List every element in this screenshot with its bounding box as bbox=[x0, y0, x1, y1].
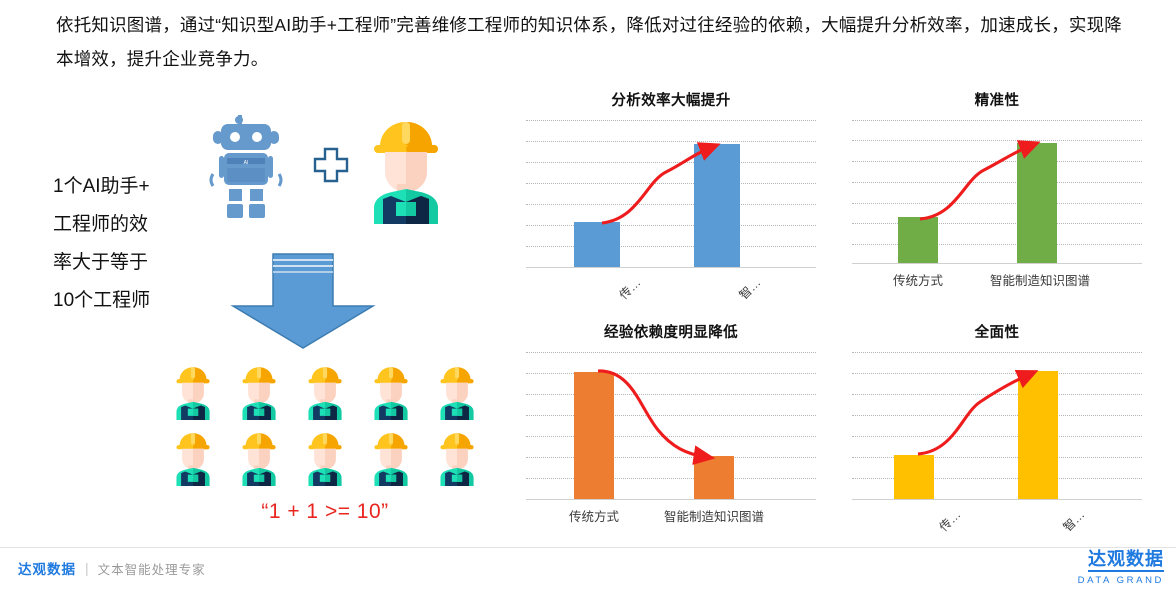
chart-plot-area bbox=[852, 352, 1142, 500]
gridline bbox=[852, 203, 1142, 204]
chart-category-row: 传… 智… bbox=[852, 500, 1142, 534]
gridline bbox=[526, 246, 816, 247]
bar-efficiency-1 bbox=[694, 144, 740, 267]
bar-efficiency-0 bbox=[574, 222, 620, 267]
chart-category-label: 智… bbox=[1059, 506, 1088, 535]
worker-icon-small bbox=[433, 426, 481, 486]
gridline bbox=[526, 373, 816, 374]
actors-illustration: AI bbox=[185, 108, 470, 228]
gridline bbox=[852, 394, 1142, 395]
bar-dependency-0 bbox=[574, 372, 614, 499]
robot-badge-label: AI bbox=[244, 160, 249, 166]
worker-icon-small bbox=[169, 426, 217, 486]
gridline bbox=[526, 457, 816, 458]
gridline bbox=[526, 478, 816, 479]
worker-icon-small bbox=[301, 426, 349, 486]
bar-accuracy-0 bbox=[898, 217, 938, 263]
worker-icon-small bbox=[367, 360, 415, 420]
gridline bbox=[526, 352, 816, 353]
left-statement-line-3: 率大于等于 bbox=[53, 244, 203, 282]
worker-icon-small bbox=[367, 426, 415, 486]
gridline bbox=[526, 183, 816, 184]
bar-accuracy-1 bbox=[1017, 143, 1057, 263]
footer-divider: | bbox=[85, 560, 89, 576]
plus-icon bbox=[312, 146, 350, 184]
gridline bbox=[526, 204, 816, 205]
gridline bbox=[852, 120, 1142, 121]
left-statement-line-4: 10个工程师 bbox=[53, 282, 203, 320]
chart-category-label: 传… bbox=[935, 506, 964, 535]
left-statement-line-1: 1个AI助手+ bbox=[53, 168, 203, 206]
chart-title: 全面性 bbox=[852, 324, 1142, 342]
left-statement: 1个AI助手+ 工程师的效 率大于等于 10个工程师 bbox=[53, 168, 203, 320]
chart-title: 经验依赖度明显降低 bbox=[526, 324, 816, 342]
chart-category-label: 智… bbox=[735, 274, 764, 303]
gridline bbox=[526, 162, 816, 163]
gridline bbox=[852, 161, 1142, 162]
worker-icon-small bbox=[433, 360, 481, 420]
gridline bbox=[852, 415, 1142, 416]
worker-icon-small bbox=[235, 426, 283, 486]
chart-plot-area bbox=[526, 120, 816, 268]
gridline bbox=[852, 373, 1142, 374]
gridline bbox=[852, 352, 1142, 353]
worker-icon-small bbox=[169, 360, 217, 420]
chart-category-row: 传统方式 智能制造知识图谱 bbox=[526, 500, 816, 534]
bar-comprehensiveness-0 bbox=[894, 455, 934, 499]
worker-icon-large bbox=[360, 108, 452, 224]
gridline bbox=[526, 436, 816, 437]
footer-tagline: 文本智能处理专家 bbox=[98, 559, 206, 578]
chart-category-label: 传统方式 bbox=[551, 506, 637, 525]
worker-grid bbox=[160, 360, 490, 486]
gridline bbox=[526, 225, 816, 226]
left-statement-line-2: 工程师的效 bbox=[53, 206, 203, 244]
gridline bbox=[852, 436, 1142, 437]
footer-divider-rule bbox=[0, 547, 1176, 548]
slide-root: 依托知识图谱，通过“知识型AI助手+工程师”完善维修工程师的知识体系，降低对过往… bbox=[0, 0, 1176, 592]
gridline bbox=[526, 120, 816, 121]
bar-dependency-1 bbox=[694, 456, 734, 499]
trend-arrow-up-icon bbox=[852, 120, 1142, 264]
worker-icon-small bbox=[235, 360, 283, 420]
formula-text: “1 + 1 >= 10” bbox=[160, 500, 490, 524]
chart-category-row: 传统方式 智能制造知识图谱 bbox=[852, 264, 1142, 298]
chart-experience-dependency: 经验依赖度明显降低 传统方式 智能制造知识图谱 bbox=[526, 324, 816, 534]
company-logo: 达观数据 DATA GRAND bbox=[1078, 550, 1164, 587]
chart-accuracy: 精准性 传统方式 智能制造知识图谱 bbox=[852, 92, 1142, 298]
gridline bbox=[526, 394, 816, 395]
gridline bbox=[526, 415, 816, 416]
gridline bbox=[852, 244, 1142, 245]
gridline bbox=[526, 141, 816, 142]
chart-category-label: 传统方式 bbox=[875, 270, 961, 289]
chart-category-label: 智能制造知识图谱 bbox=[654, 506, 774, 525]
worker-icon-small bbox=[301, 360, 349, 420]
gridline bbox=[852, 182, 1142, 183]
chart-category-row: 传… 智… bbox=[526, 268, 816, 302]
down-arrow-shape bbox=[213, 248, 393, 352]
footer-brand-group: 达观数据 | 文本智能处理专家 bbox=[18, 558, 206, 578]
bar-comprehensiveness-1 bbox=[1018, 371, 1058, 499]
gridline bbox=[852, 140, 1142, 141]
chart-comprehensiveness: 全面性 传… 智… bbox=[852, 324, 1142, 534]
robot-icon: AI bbox=[200, 112, 292, 222]
logo-chinese-name: 达观数据 bbox=[1088, 550, 1164, 572]
chart-title: 分析效率大幅提升 bbox=[526, 92, 816, 110]
chart-efficiency: 分析效率大幅提升 传… 智… bbox=[526, 92, 816, 302]
gridline bbox=[852, 223, 1142, 224]
page-title: 依托知识图谱，通过“知识型AI助手+工程师”完善维修工程师的知识体系，降低对过往… bbox=[56, 8, 1134, 76]
chart-category-label: 传… bbox=[615, 274, 644, 303]
chart-plot-area bbox=[526, 352, 816, 500]
chart-category-label: 智能制造知识图谱 bbox=[980, 270, 1100, 289]
logo-english-name: DATA GRAND bbox=[1078, 574, 1164, 587]
chart-title: 精准性 bbox=[852, 92, 1142, 110]
chart-plot-area bbox=[852, 120, 1142, 264]
footer-brand-name: 达观数据 bbox=[18, 558, 76, 578]
